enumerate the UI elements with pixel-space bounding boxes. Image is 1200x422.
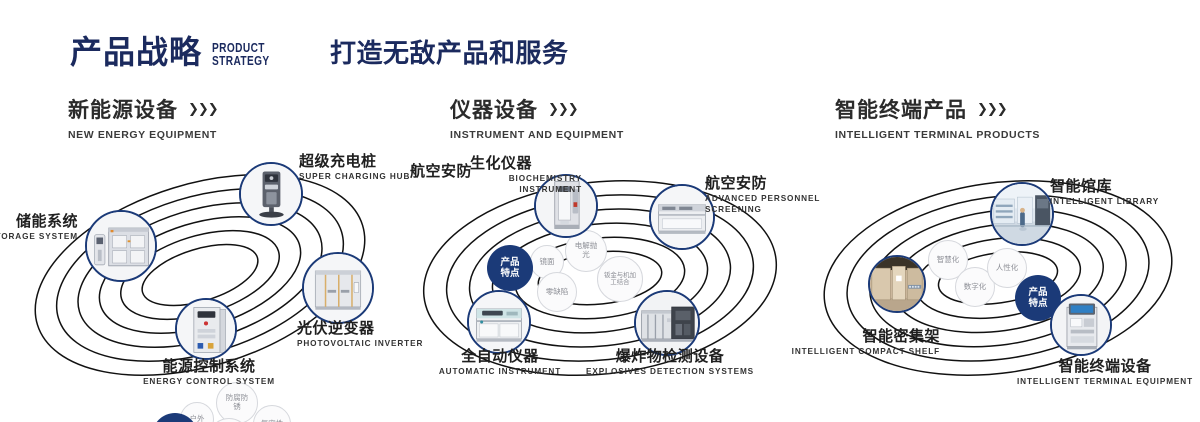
product-label-cn: 爆炸物检测设备 bbox=[570, 348, 770, 365]
section-heading-new-energy: 新能源设备 ❯❯❯ NEW ENERGY EQUIPMENT bbox=[68, 94, 218, 141]
section-heading-en: NEW ENERGY EQUIPMENT bbox=[68, 129, 218, 141]
product-label-cn: 智能密集架 bbox=[760, 328, 940, 345]
page-subtitle: 打造无敌产品和服务 bbox=[330, 33, 569, 70]
product-label-cn: 能源控制系统 bbox=[104, 358, 314, 375]
section-heading-instrument: 仪器设备 ❯❯❯ INSTRUMENT AND EQUIPMENT bbox=[450, 94, 624, 141]
product-label-cn: 储能系统 bbox=[0, 213, 78, 230]
cluster-intelligent-terminal: 智慧化 数字化 人性化 产品 特点 bbox=[800, 150, 1200, 410]
product-label-intelligent-library: 智能馆库 INTELLIGENT LIBRARY bbox=[1050, 178, 1200, 208]
core-bubble-line2: 特点 bbox=[500, 268, 519, 279]
automatic-instrument-image bbox=[469, 292, 529, 352]
section-heading-cn: 仪器设备 ❯❯❯ bbox=[450, 94, 624, 124]
product-label-cn: 全自动仪器 bbox=[405, 348, 595, 365]
section-heading-en: INTELLIGENT TERMINAL PRODUCTS bbox=[835, 129, 1040, 141]
feature-bubble: 零缺陷 bbox=[537, 272, 577, 312]
cluster-new-energy: 户外 防腐防锈 防水防尘 气密性 产品 特点 bbox=[0, 150, 400, 410]
product-node-energy-storage[interactable] bbox=[85, 210, 157, 282]
core-bubble-line2: 特点 bbox=[1028, 298, 1047, 309]
product-label-biochemistry-instrument: 生化仪器 BIOCHEMISTRY INSTRUMENT bbox=[470, 155, 600, 196]
product-node-intelligent-library[interactable] bbox=[990, 182, 1054, 246]
product-label-intelligent-compact-shelf: 智能密集架 INTELLIGENT COMPACT SHELF bbox=[760, 328, 940, 358]
section-heading-intelligent-terminal: 智能终端产品 ❯❯❯ INTELLIGENT TERMINAL PRODUCTS bbox=[835, 94, 1040, 141]
core-bubble-line1: 产品 bbox=[500, 257, 519, 268]
product-strategy-infographic: 产品战略 PRODUCT STRATEGY 打造无敌产品和服务 新能源设备 ❯❯… bbox=[0, 0, 1200, 422]
feature-bubble-label: 数字化 bbox=[964, 283, 987, 292]
intelligent-library-image bbox=[992, 184, 1052, 244]
intelligent-compact-shelf-image bbox=[870, 257, 924, 311]
feature-bubble-label: 智慧化 bbox=[937, 256, 960, 265]
feature-bubble-label: 钣金与机加工结合 bbox=[604, 272, 636, 287]
product-label-energy-control-system: 能源控制系统 ENERGY CONTROL SYSTEM bbox=[104, 358, 314, 388]
product-label-cn: 智能馆库 bbox=[1050, 178, 1200, 195]
product-label-en: INTELLIGENT TERMINAL EQUIPMENT bbox=[1005, 377, 1200, 388]
explosives-detection-image bbox=[636, 292, 698, 354]
product-label-en: INTELLIGENT LIBRARY bbox=[1050, 197, 1200, 208]
product-label-cn: 智能终端设备 bbox=[1005, 358, 1200, 375]
feature-bubble: 防腐防锈 bbox=[216, 382, 258, 422]
page-title: 产品战略 PRODUCT STRATEGY bbox=[70, 28, 286, 76]
chevron-right-icon: ❯❯❯ bbox=[977, 102, 1007, 117]
product-label-automatic-instrument: 全自动仪器 AUTOMATIC INSTRUMENT bbox=[405, 348, 595, 378]
cluster-instrument: 镜面 电解抛光 零缺陷 钣金与机加工结合 产品 特点 航空安防 bbox=[395, 150, 805, 410]
product-node-intelligent-terminal-equipment[interactable] bbox=[1050, 294, 1112, 356]
product-label-en: ENERGY CONTROL SYSTEM bbox=[104, 377, 314, 388]
product-label-en: ENERGY STORAGE SYSTEM bbox=[0, 232, 78, 243]
section-heading-cn-text: 新能源设备 bbox=[68, 94, 178, 124]
section-heading-cn: 新能源设备 ❯❯❯ bbox=[68, 94, 218, 124]
product-node-energy-control-system[interactable] bbox=[175, 298, 237, 360]
feature-bubble-label: 零缺陷 bbox=[542, 288, 572, 297]
product-label-en: EXPLOSIVES DETECTION SYSTEMS bbox=[570, 367, 770, 378]
photovoltaic-inverter-image bbox=[304, 254, 372, 322]
feature-bubble-label: 人性化 bbox=[996, 264, 1019, 273]
product-label-explosives-detection: 爆炸物检测设备 EXPLOSIVES DETECTION SYSTEMS bbox=[570, 348, 770, 378]
product-node-intelligent-compact-shelf[interactable] bbox=[868, 255, 926, 313]
chevron-right-icon: ❯❯❯ bbox=[188, 102, 218, 117]
section-heading-cn-text: 智能终端产品 bbox=[835, 94, 967, 124]
feature-bubble-label: 防腐防锈 bbox=[224, 394, 250, 411]
product-label-intelligent-terminal-equipment: 智能终端设备 INTELLIGENT TERMINAL EQUIPMENT bbox=[1005, 358, 1200, 388]
energy-control-system-image bbox=[177, 300, 235, 358]
chevron-right-icon: ❯❯❯ bbox=[548, 102, 578, 117]
advanced-personnel-screening-image bbox=[651, 186, 713, 248]
feature-bubble-label: 电解抛光 bbox=[573, 242, 599, 259]
product-label-en: INTELLIGENT COMPACT SHELF bbox=[760, 347, 940, 358]
title-en: PRODUCT STRATEGY bbox=[212, 38, 270, 67]
product-label-en: BIOCHEMISTRY INSTRUMENT bbox=[470, 174, 582, 195]
intelligent-terminal-equipment-image bbox=[1052, 296, 1110, 354]
core-bubble-product-features: 产品 特点 bbox=[487, 245, 533, 291]
product-node-photovoltaic-inverter[interactable] bbox=[302, 252, 374, 324]
product-label-en: AUTOMATIC INSTRUMENT bbox=[405, 367, 595, 378]
super-charging-hub-image bbox=[241, 164, 301, 224]
product-label-cn: 生化仪器 bbox=[470, 155, 600, 172]
feature-bubble-label: 镜面 bbox=[540, 258, 555, 267]
section-heading-en: INSTRUMENT AND EQUIPMENT bbox=[450, 129, 624, 141]
section-heading-cn-text: 仪器设备 bbox=[450, 94, 538, 124]
title-en-line2: STRATEGY bbox=[212, 54, 270, 67]
product-label-energy-storage: 储能系统 ENERGY STORAGE SYSTEM bbox=[0, 213, 78, 243]
product-node-automatic-instrument[interactable] bbox=[467, 290, 531, 354]
product-node-super-charging-hub[interactable] bbox=[239, 162, 303, 226]
section-heading-cn: 智能终端产品 ❯❯❯ bbox=[835, 94, 1040, 124]
core-bubble-line1: 产品 bbox=[1028, 287, 1047, 298]
energy-storage-image bbox=[87, 212, 155, 280]
title-cn: 产品战略 bbox=[70, 36, 202, 68]
